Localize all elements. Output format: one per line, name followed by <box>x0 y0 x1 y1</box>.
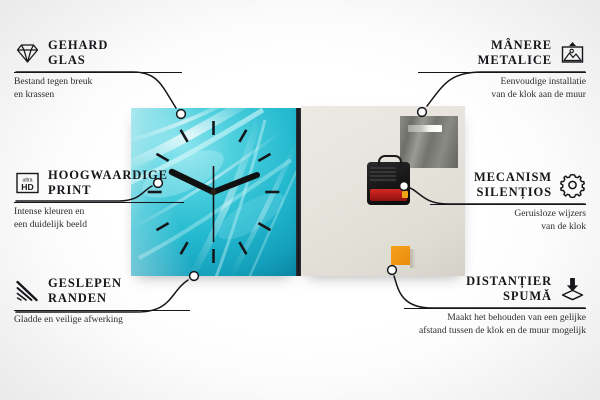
callout-mecanism-silentios: MECANISM SILENȚIOS Geruisloze wijzers va… <box>430 170 586 233</box>
callout-title-line-2: SPUMĂ <box>466 289 552 304</box>
callout-subtitle: Gladde en veilige afwerking <box>14 314 190 327</box>
hanging-picture-icon <box>559 40 586 66</box>
callout-rule <box>430 204 586 205</box>
callout-titles: MÂNERE METALICE <box>478 38 552 68</box>
callout-title-line-2: GLAS <box>48 53 108 68</box>
callout-titles: DISTANȚIER SPUMĂ <box>466 274 552 304</box>
callout-title-line-1: HOOGWAARDIGE <box>48 168 168 183</box>
diamond-icon <box>14 40 41 66</box>
callout-header: DISTANȚIER SPUMĂ <box>404 274 586 304</box>
callout-rule <box>14 202 184 203</box>
callout-manere-metalice: MÂNERE METALICE Eenvoudige installatie v… <box>418 38 586 101</box>
callout-subtitle: Eenvoudige installatie van de klok aan d… <box>418 76 586 102</box>
diagonal-lines-icon <box>14 278 41 304</box>
callout-header: ultra HD HOOGWAARDIGE PRINT <box>14 168 184 198</box>
callout-subtitle: Bestand tegen breuk en krassen <box>14 76 182 102</box>
callout-header: MÂNERE METALICE <box>418 38 586 68</box>
callout-rule <box>404 308 586 309</box>
ultra-hd-icon: ultra HD <box>14 170 41 196</box>
infographic-stage: GEHARD GLAS Bestand tegen breuk en krass… <box>0 0 600 400</box>
arrow-down-layers-icon <box>559 276 586 302</box>
svg-text:HD: HD <box>21 182 33 192</box>
callout-title-line-2: METALICE <box>478 53 552 68</box>
callout-header: GESLEPEN RANDEN <box>14 276 190 306</box>
callout-subtitle: Maakt het behouden van een gelijke afsta… <box>404 312 586 338</box>
callout-gehard-glas: GEHARD GLAS Bestand tegen breuk en krass… <box>14 38 182 101</box>
callout-hoogwaardige-print: ultra HD HOOGWAARDIGE PRINT Intense kleu… <box>14 168 184 231</box>
callout-title-line-1: GESLEPEN <box>48 276 122 291</box>
gear-icon <box>559 172 586 198</box>
callout-title-line-2: PRINT <box>48 183 168 198</box>
callout-title-line-1: GEHARD <box>48 38 108 53</box>
callout-subtitle: Intense kleuren en een duidelijk beeld <box>14 206 184 232</box>
callout-rule <box>418 72 586 73</box>
callout-geslepen-randen: GESLEPEN RANDEN Gladde en veilige afwerk… <box>14 276 190 327</box>
callout-header: MECANISM SILENȚIOS <box>430 170 586 200</box>
callout-titles: GEHARD GLAS <box>48 38 108 68</box>
callout-rule <box>14 72 182 73</box>
callout-rule <box>14 310 190 311</box>
callout-subtitle: Geruisloze wijzers van de klok <box>430 208 586 234</box>
callout-titles: GESLEPEN RANDEN <box>48 276 122 306</box>
callout-titles: MECANISM SILENȚIOS <box>474 170 552 200</box>
callout-distantier-spuma: DISTANȚIER SPUMĂ Maakt het behouden van … <box>404 274 586 337</box>
callout-header: GEHARD GLAS <box>14 38 182 68</box>
callout-title-line-1: MECANISM <box>474 170 552 185</box>
callout-title-line-2: RANDEN <box>48 291 122 306</box>
callout-titles: HOOGWAARDIGE PRINT <box>48 168 168 198</box>
callout-title-line-2: SILENȚIOS <box>474 185 552 200</box>
callout-title-line-1: MÂNERE <box>478 38 552 53</box>
callout-title-line-1: DISTANȚIER <box>466 274 552 289</box>
